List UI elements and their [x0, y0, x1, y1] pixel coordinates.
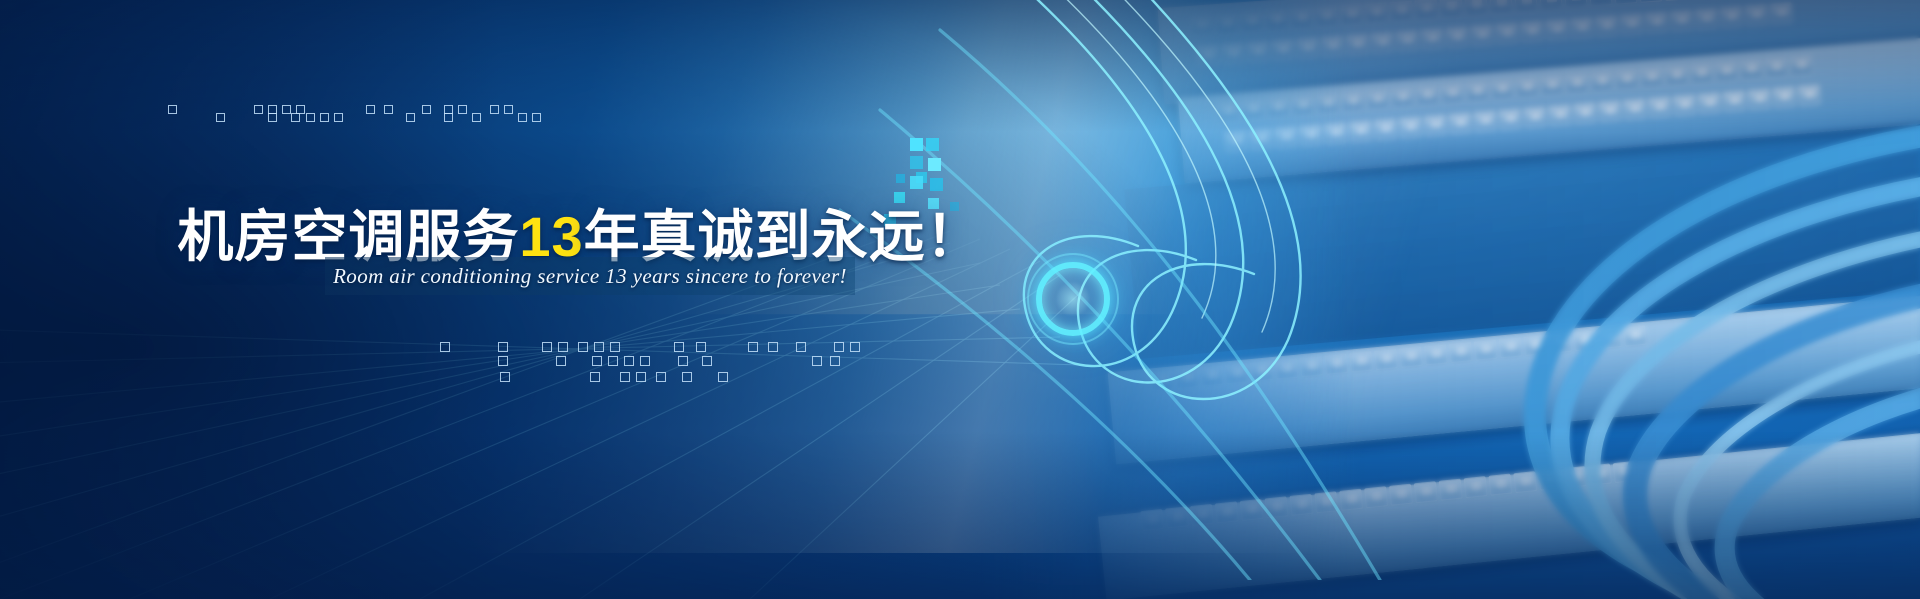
pixel-square-row-top	[160, 100, 580, 130]
banner-subtitle-box: Room air conditioning service 13 years s…	[325, 257, 855, 295]
glow-ring-icon	[1036, 262, 1110, 336]
glow-swoosh-curves	[820, 0, 1580, 580]
banner-subtitle: Room air conditioning service 13 years s…	[333, 264, 847, 289]
pixel-square-row-bottom	[430, 338, 900, 390]
hero-banner: 机房空调服务13年真诚到永远！ Room air conditioning se…	[0, 0, 1920, 599]
